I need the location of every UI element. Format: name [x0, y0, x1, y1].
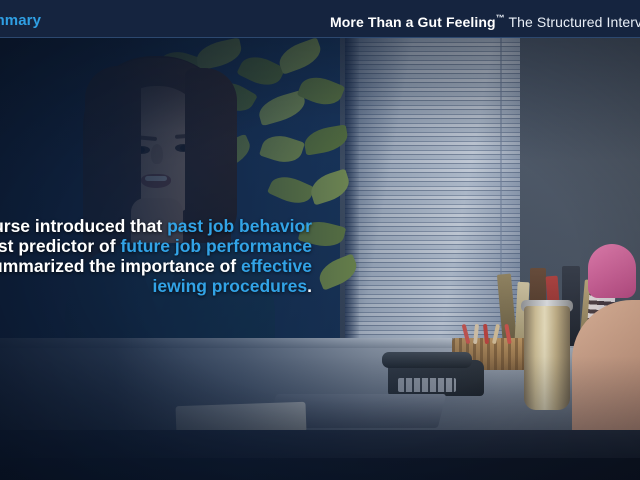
- caption-line-1: ourse introduced that past job behavior: [0, 216, 312, 236]
- caption-line-2-plain: best predictor of: [0, 236, 120, 256]
- caption-line-3: ummarized the importance of effective: [0, 256, 312, 276]
- caption-line-3-highlight: effective: [241, 256, 312, 276]
- caption-line-4: iewing procedures.: [0, 276, 312, 296]
- caption-line-1-highlight: past job behavior: [167, 216, 312, 236]
- caption-text: ourse introduced that past job behavior …: [0, 216, 312, 296]
- caption-line-2-highlight: future job performance: [120, 236, 312, 256]
- header-section-label: Summary: [0, 12, 41, 29]
- trademark-symbol: ™: [496, 13, 505, 23]
- caption-line-2: best predictor of future job performance: [0, 236, 312, 256]
- video-stage[interactable]: ourse introduced that past job behavior …: [0, 38, 640, 480]
- course-title-brand: More Than a Gut Feeling: [330, 14, 496, 30]
- video-player: Summary More Than a Gut Feeling™ The Str…: [0, 0, 640, 480]
- course-title-subtitle: The Structured Intervi: [505, 14, 640, 30]
- caption-line-3-plain: ummarized the importance of: [0, 256, 241, 276]
- caption-line-4-highlight: iewing procedures: [153, 276, 308, 296]
- header-course-title: More Than a Gut Feeling™ The Structured …: [330, 13, 640, 30]
- caption-line-4-period: .: [307, 276, 312, 296]
- player-header: Summary More Than a Gut Feeling™ The Str…: [0, 0, 640, 38]
- caption-line-1-plain: ourse introduced that: [0, 216, 167, 236]
